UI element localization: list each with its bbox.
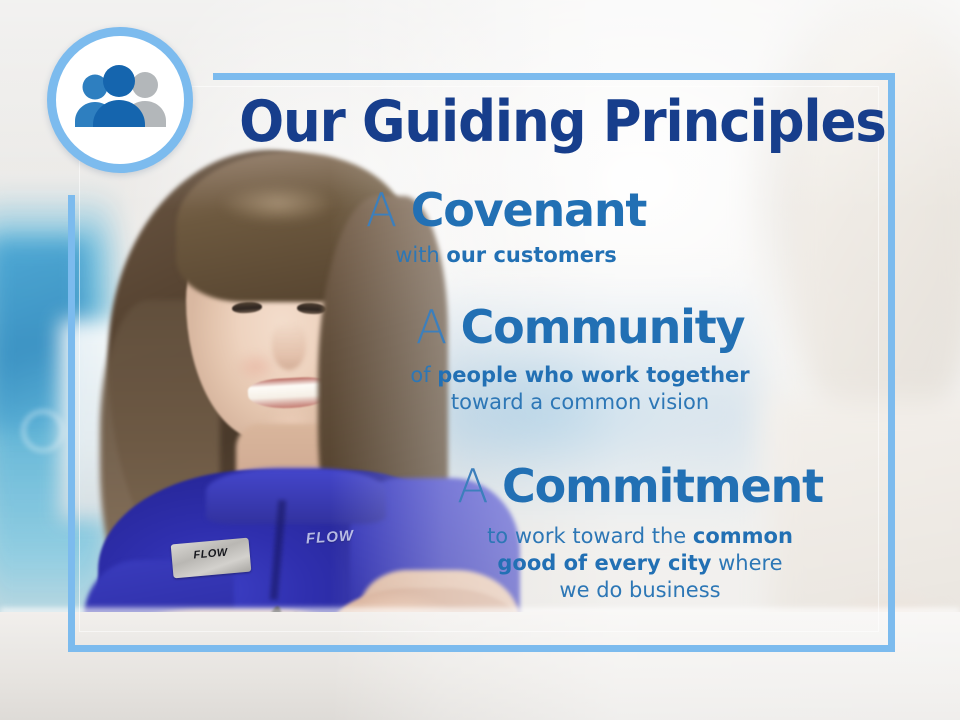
frame-border-top bbox=[213, 73, 895, 80]
principle-community-subtitle: of people who work together toward a com… bbox=[330, 362, 830, 417]
principle-commitment-sub-line2-bold: good of every city bbox=[497, 551, 711, 575]
principle-covenant-sub-bold: our customers bbox=[446, 243, 616, 267]
principle-community: A Community of people who work together … bbox=[330, 303, 830, 416]
name-badge-text: FLOW bbox=[171, 545, 250, 564]
principle-covenant-heading: A Covenant bbox=[276, 186, 736, 235]
principle-community-sub-line1-bold: people who work together bbox=[437, 363, 749, 387]
principle-commitment-lead: A bbox=[457, 459, 488, 513]
principle-covenant-sub-regular: with bbox=[395, 243, 446, 267]
table-surface bbox=[0, 612, 960, 720]
principle-community-sub-line2: toward a common vision bbox=[330, 389, 830, 416]
principle-commitment-word: Commitment bbox=[502, 459, 823, 513]
woman-nose bbox=[272, 322, 306, 370]
page-title: Our Guiding Principles bbox=[239, 94, 853, 151]
principle-covenant-word: Covenant bbox=[411, 183, 646, 237]
woman-polo-collar bbox=[206, 468, 386, 524]
principle-covenant: A Covenant with our customers bbox=[276, 186, 736, 269]
poster-canvas: FLOW FLOW Three people group icon bbox=[0, 0, 960, 720]
frame-border-left bbox=[68, 195, 75, 652]
principle-community-lead: A bbox=[416, 300, 447, 354]
principle-commitment-sub-line1: to work toward the common bbox=[400, 523, 880, 550]
name-badge: FLOW bbox=[171, 538, 252, 579]
principle-community-sub-line1-regular: of bbox=[410, 363, 437, 387]
principle-commitment-sub-line3: we do business bbox=[400, 577, 880, 604]
principle-commitment-sub-line2: good of every city where bbox=[400, 550, 880, 577]
principle-community-heading: A Community bbox=[330, 303, 830, 352]
principle-commitment-subtitle: to work toward the common good of every … bbox=[400, 523, 880, 605]
principle-commitment-sub-line2-regular: where bbox=[711, 551, 782, 575]
people-group-icon bbox=[69, 64, 171, 136]
principle-commitment: A Commitment to work toward the common g… bbox=[400, 462, 880, 605]
principle-community-sub-line1: of people who work together bbox=[330, 362, 830, 389]
principle-commitment-sub-line1-bold: common bbox=[693, 524, 793, 548]
principle-covenant-lead: A bbox=[366, 183, 397, 237]
principle-commitment-sub-line1-regular: to work toward the bbox=[487, 524, 693, 548]
blurred-badge-logo bbox=[22, 410, 64, 452]
principle-community-word: Community bbox=[461, 300, 745, 354]
frame-border-right bbox=[888, 73, 895, 652]
frame-border-bottom bbox=[68, 645, 895, 652]
principle-commitment-heading: A Commitment bbox=[400, 462, 880, 511]
people-badge: Three people group icon bbox=[47, 27, 193, 173]
principle-covenant-subtitle: with our customers bbox=[276, 242, 736, 269]
